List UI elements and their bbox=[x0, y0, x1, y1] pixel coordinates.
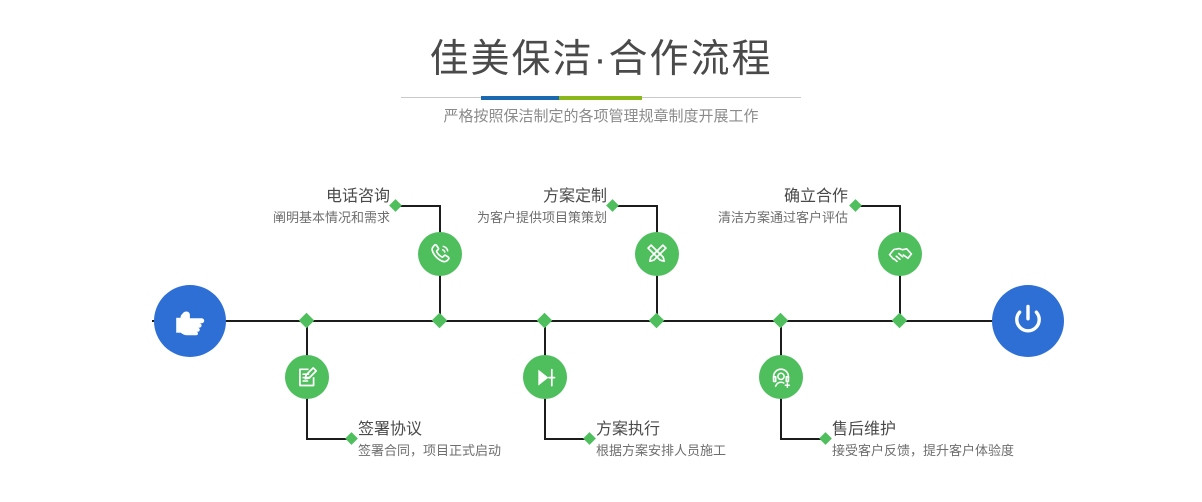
step-icon-plan-design[interactable] bbox=[635, 232, 679, 276]
step-desc: 根据方案安排人员施工 bbox=[596, 441, 726, 461]
step-desc: 签署合同，项目正式启动 bbox=[358, 441, 501, 461]
marker-axis-below-2 bbox=[537, 313, 553, 329]
step-desc: 接受客户反馈，提升客户体验度 bbox=[832, 441, 1014, 461]
power-icon bbox=[1007, 300, 1049, 342]
title-divider bbox=[401, 96, 801, 100]
document-edit-icon bbox=[295, 365, 320, 390]
step-icon-after-sales[interactable] bbox=[759, 355, 803, 399]
divider-segment-blue bbox=[481, 96, 559, 100]
timeline-end-endpoint bbox=[992, 285, 1064, 357]
step-desc: 清洁方案通过客户评估 bbox=[530, 208, 848, 228]
pen-edit-icon bbox=[644, 241, 670, 267]
step-label-below-1: 签署协议 签署合同，项目正式启动 bbox=[358, 419, 501, 461]
customer-support-icon bbox=[769, 365, 794, 390]
marker-axis-above-3 bbox=[892, 313, 908, 329]
step-icon-phone[interactable] bbox=[418, 232, 462, 276]
step-icon-handshake[interactable] bbox=[878, 232, 922, 276]
marker-axis-below-1 bbox=[299, 313, 315, 329]
play-execute-icon bbox=[533, 365, 558, 390]
step-icon-sign-agreement[interactable] bbox=[285, 355, 329, 399]
handshake-icon bbox=[887, 241, 914, 268]
marker-axis-below-3 bbox=[773, 313, 789, 329]
pointing-hand-icon bbox=[170, 301, 210, 341]
step-label-below-3: 售后维护 接受客户反馈，提升客户体验度 bbox=[832, 419, 1014, 461]
step-label-below-2: 方案执行 根据方案安排人员施工 bbox=[596, 419, 726, 461]
step-title: 方案执行 bbox=[596, 419, 726, 441]
connector-horizontal-above-3 bbox=[856, 205, 901, 207]
header-block: 佳美保洁·合作流程 严格按照保洁制定的各项管理规章制度开展工作 bbox=[0, 0, 1202, 150]
step-icon-execute-plan[interactable] bbox=[523, 355, 567, 399]
marker-axis-above-2 bbox=[649, 313, 665, 329]
step-label-above-3: 确立合作 清洁方案通过客户评估 bbox=[530, 186, 848, 228]
marker-axis-above-1 bbox=[432, 313, 448, 329]
process-timeline: 电话咨询 阐明基本情况和需求 方案定制 为客户提供项目策策划 bbox=[0, 150, 1202, 502]
marker-label-below-1 bbox=[345, 432, 358, 445]
page-title: 佳美保洁·合作流程 bbox=[0, 36, 1202, 84]
infographic-canvas: 佳美保洁·合作流程 严格按照保洁制定的各项管理规章制度开展工作 bbox=[0, 0, 1202, 502]
phone-call-icon bbox=[427, 241, 453, 267]
timeline-axis bbox=[152, 320, 1050, 322]
page-subtitle: 严格按照保洁制定的各项管理规章制度开展工作 bbox=[0, 106, 1202, 128]
marker-label-below-2 bbox=[583, 432, 596, 445]
timeline-start-endpoint bbox=[154, 285, 226, 357]
marker-label-above-3 bbox=[849, 199, 862, 212]
marker-label-below-3 bbox=[819, 432, 832, 445]
step-title: 签署协议 bbox=[358, 419, 501, 441]
step-title: 售后维护 bbox=[832, 419, 1014, 441]
step-title: 确立合作 bbox=[530, 186, 848, 208]
divider-segment-green bbox=[559, 96, 642, 100]
